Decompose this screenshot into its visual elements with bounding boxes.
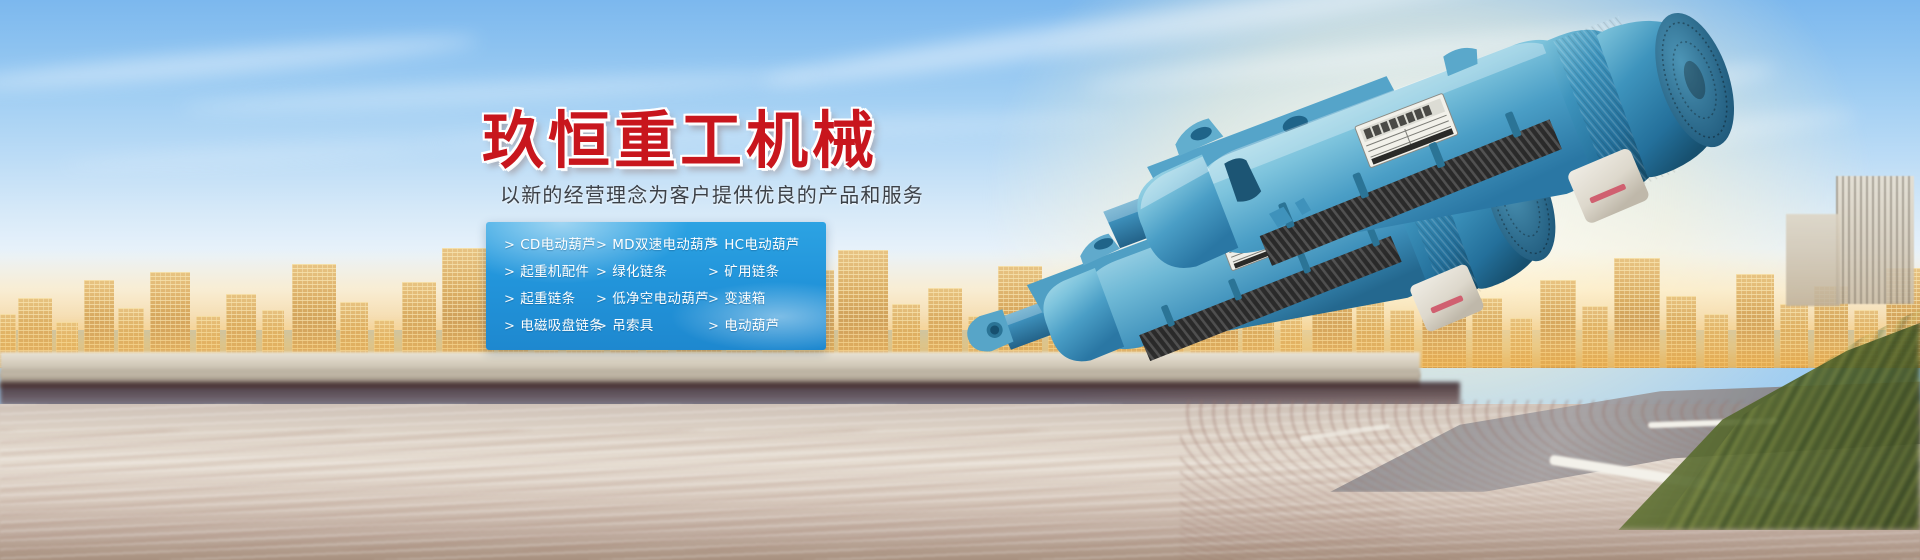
chevron-right-icon: > — [708, 239, 719, 252]
product-link-label: 绿化链条 — [612, 266, 667, 280]
product-link-label: CD电动葫芦 — [520, 239, 596, 253]
product-link-label: 矿用链条 — [724, 266, 779, 280]
page-title: 玖恒重工机械 — [482, 110, 878, 172]
link-electromagnetic-chuck-chain[interactable]: >电磁吸盘链条 — [504, 320, 596, 334]
chevron-right-icon: > — [708, 320, 719, 333]
product-link-label: 低净空电动葫芦 — [612, 293, 709, 307]
right-tower-building — [1836, 176, 1914, 304]
chevron-right-icon: > — [596, 239, 607, 252]
product-link-label: 变速箱 — [724, 293, 765, 307]
chevron-right-icon: > — [708, 266, 719, 279]
link-gearbox[interactable]: >变速箱 — [708, 293, 826, 307]
chevron-right-icon: > — [504, 293, 515, 306]
page-subtitle: 以新的经营理念为客户提供优良的产品和服务 — [500, 185, 924, 205]
link-greening-chain[interactable]: >绿化链条 — [596, 266, 708, 280]
link-md-dual-speed-electric-hoist[interactable]: >MD双速电动葫芦 — [596, 239, 708, 253]
product-link-label: 起重机配件 — [520, 266, 589, 280]
product-link-label: MD双速电动葫芦 — [612, 239, 717, 253]
link-slings-and-rigging[interactable]: >吊索具 — [596, 320, 708, 334]
link-lifting-chain[interactable]: >起重链条 — [504, 293, 596, 307]
product-links-panel: >CD电动葫芦>MD双速电动葫芦>HC电动葫芦>起重机配件>绿化链条>矿用链条>… — [486, 222, 826, 350]
chevron-right-icon: > — [596, 266, 607, 279]
link-electric-hoist[interactable]: >电动葫芦 — [708, 320, 826, 334]
product-link-label: 吊索具 — [612, 320, 653, 334]
chevron-right-icon: > — [708, 293, 719, 306]
link-low-headroom-electric-hoist[interactable]: >低净空电动葫芦 — [596, 293, 708, 307]
link-mining-chain[interactable]: >矿用链条 — [708, 266, 826, 280]
hero-banner: 玖恒重工机械 以新的经营理念为客户提供优良的产品和服务 >CD电动葫芦>MD双速… — [0, 0, 1920, 560]
chevron-right-icon: > — [504, 239, 515, 252]
product-link-label: 电磁吸盘链条 — [520, 320, 603, 334]
link-cd-electric-hoist[interactable]: >CD电动葫芦 — [504, 239, 596, 253]
product-links-grid: >CD电动葫芦>MD双速电动葫芦>HC电动葫芦>起重机配件>绿化链条>矿用链条>… — [486, 222, 826, 350]
chevron-right-icon: > — [596, 293, 607, 306]
chevron-right-icon: > — [504, 266, 515, 279]
right-tower-building-secondary — [1786, 214, 1840, 306]
link-hc-electric-hoist[interactable]: >HC电动葫芦 — [708, 239, 826, 253]
product-link-label: HC电动葫芦 — [724, 239, 799, 253]
chevron-right-icon: > — [504, 320, 515, 333]
link-crane-parts[interactable]: >起重机配件 — [504, 266, 596, 280]
chevron-right-icon: > — [596, 320, 607, 333]
product-link-label: 起重链条 — [520, 293, 575, 307]
city-skyline — [0, 248, 1920, 368]
product-link-label: 电动葫芦 — [724, 320, 779, 334]
